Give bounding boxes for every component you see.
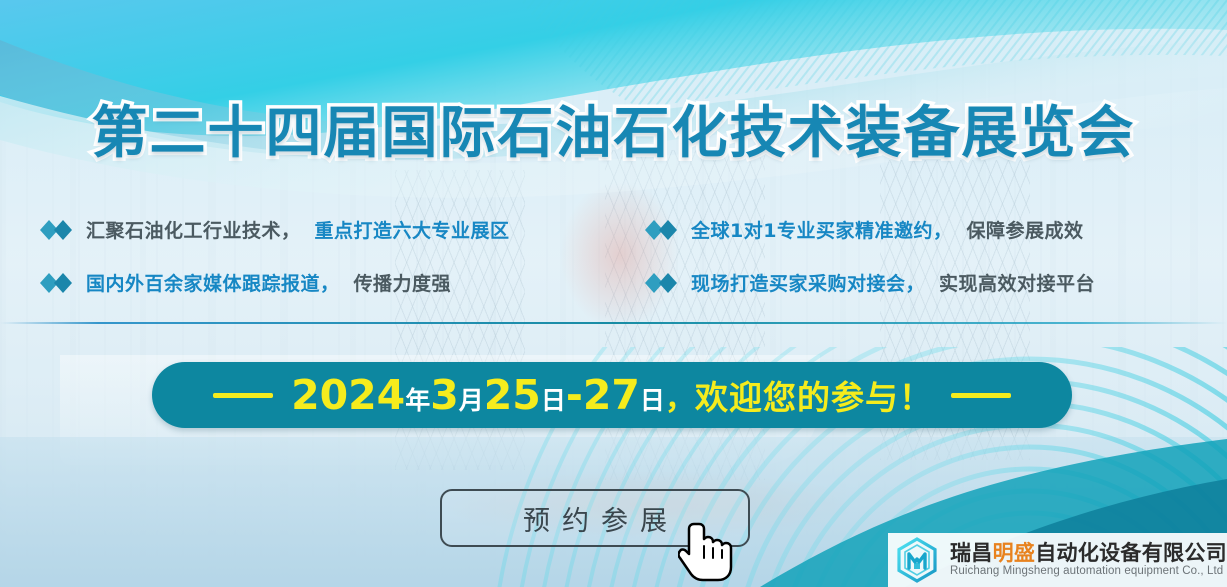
date-text: 2024年3月25日-27日，欢迎您的参与！ (291, 375, 933, 416)
double-diamond-icon (40, 219, 72, 241)
left-dash-decoration (213, 393, 273, 398)
bullet-item: 汇聚石油化工行业技术， 重点打造六大专业展区 (40, 216, 510, 243)
right-dash-decoration (951, 393, 1011, 398)
company-logo-panel: 瑞昌明盛自动化设备有限公司 Ruichang Mingsheng automat… (888, 533, 1227, 587)
section-divider (0, 322, 1227, 324)
year-unit: 年 (405, 386, 430, 415)
double-diamond-icon (645, 219, 677, 241)
day-end-unit: 日 (640, 386, 665, 415)
month-unit: 月 (459, 386, 484, 415)
bullet-lead-text: 国内外百余家媒体跟踪报道， (86, 269, 340, 296)
double-diamond-icon (645, 272, 677, 294)
exhibition-banner: 第二十四届国际石油石化技术装备展览会 汇聚石油化工行业技术， 重点打造六大专业展… (0, 0, 1227, 587)
bullet-lead-text: 现场打造买家采购对接会， (691, 269, 925, 296)
bullet-highlight-text: 传播力度强 (354, 269, 452, 296)
comma-separator: ， (665, 382, 695, 417)
bullet-item: 全球1对1专业买家精准邀约， 保障参展成效 (645, 216, 1083, 243)
company-name-accent: 明盛 (993, 541, 1036, 565)
bullet-item: 国内外百余家媒体跟踪报道， 传播力度强 (40, 269, 451, 296)
year-value: 2024 (291, 371, 405, 419)
company-name-cn: 瑞昌明盛自动化设备有限公司 (950, 542, 1227, 566)
day-start-unit: 日 (541, 386, 566, 415)
bullet-highlight-text: 重点打造六大专业展区 (315, 216, 510, 243)
month-value: 3 (430, 371, 459, 419)
bullet-item: 现场打造买家采购对接会， 实现高效对接平台 (645, 269, 1095, 296)
feature-bullets: 汇聚石油化工行业技术， 重点打造六大专业展区 国内外百余家媒体跟踪报道， 传播力… (0, 208, 1227, 318)
company-name-suffix: 自动化设备有限公司 (1035, 541, 1227, 565)
range-separator: - (566, 371, 583, 419)
bullet-highlight-text: 保障参展成效 (966, 216, 1083, 243)
company-name-prefix: 瑞昌 (950, 541, 993, 565)
double-diamond-icon (40, 272, 72, 294)
register-button[interactable]: 预约参展 (440, 489, 750, 547)
page-title: 第二十四届国际石油石化技术装备展览会 (92, 88, 1136, 169)
day-end-value: 27 (583, 371, 640, 419)
bullet-lead-text: 汇聚石油化工行业技术， (86, 216, 301, 243)
register-button-label: 预约参展 (511, 499, 679, 538)
company-name-en: Ruichang Mingsheng automation equipment … (950, 565, 1227, 578)
company-name-block: 瑞昌明盛自动化设备有限公司 Ruichang Mingsheng automat… (950, 542, 1227, 578)
hexagon-m-logo-icon (894, 537, 940, 583)
date-banner: 2024年3月25日-27日，欢迎您的参与！ (152, 362, 1072, 428)
day-start-value: 25 (484, 371, 541, 419)
welcome-text: 欢迎您的参与！ (695, 378, 933, 417)
bullet-highlight-text: 实现高效对接平台 (939, 269, 1095, 296)
bullet-lead-text: 全球1对1专业买家精准邀约， (691, 216, 952, 243)
title-container: 第二十四届国际石油石化技术装备展览会 (0, 88, 1227, 169)
